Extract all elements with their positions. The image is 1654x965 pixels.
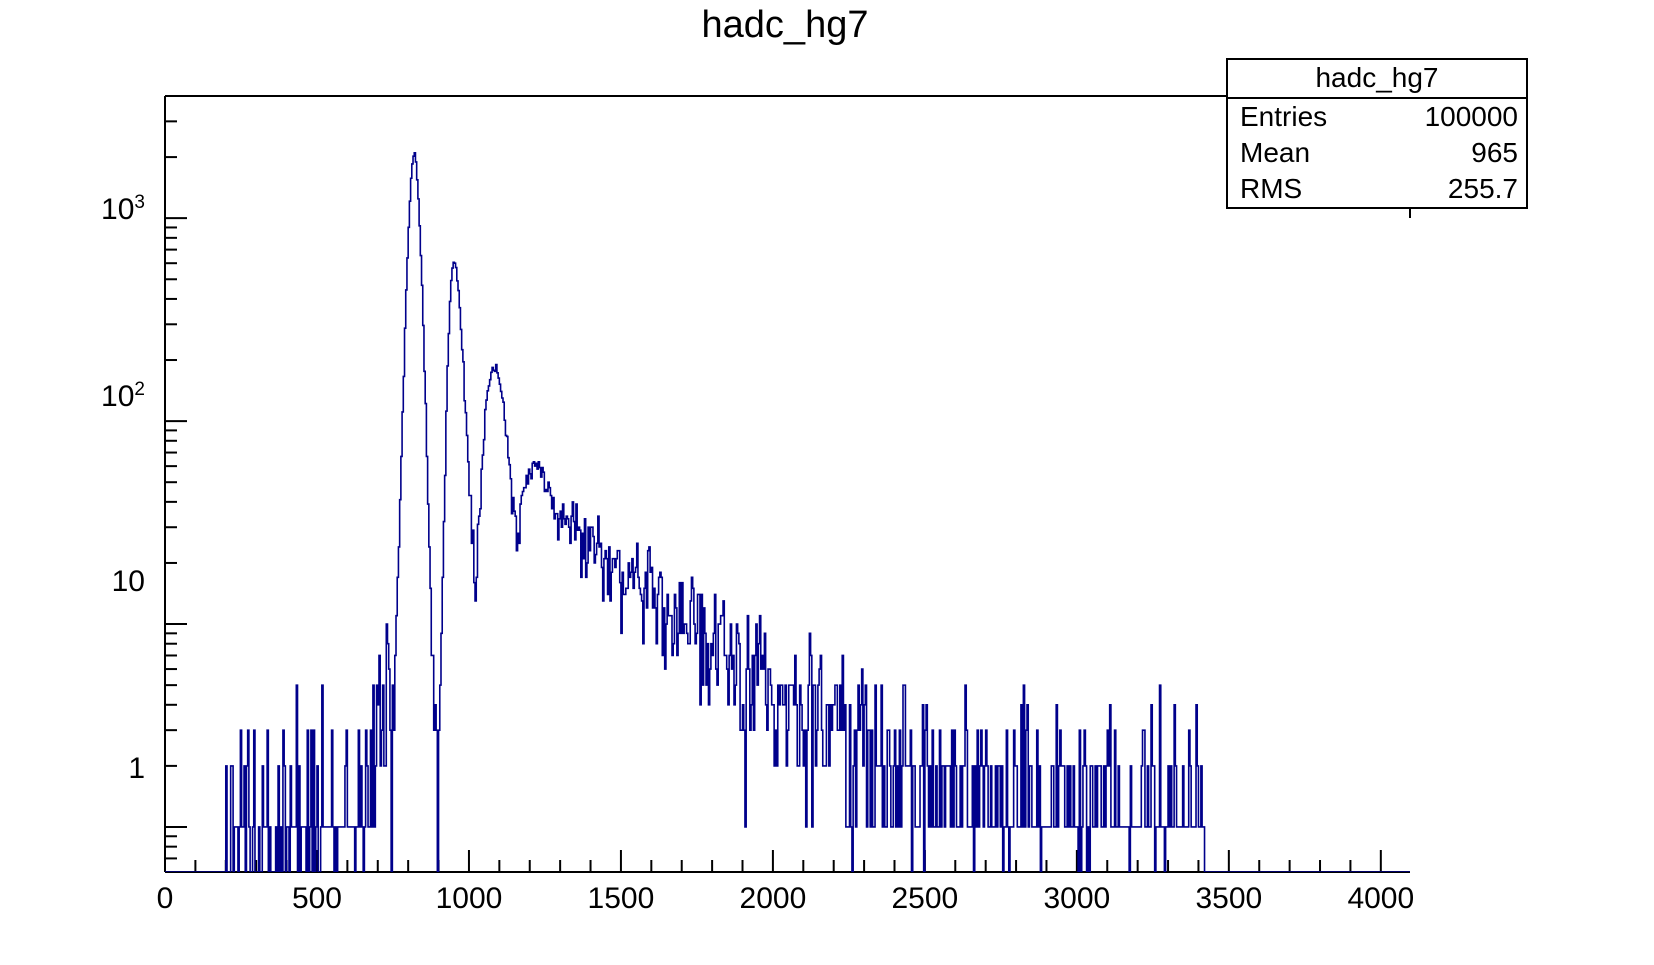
y-axis-ticks [165,96,187,872]
x-tick-label-2000: 2000 [713,882,833,916]
x-axis-ticks [165,850,1381,872]
histogram-layer [165,153,1410,872]
stats-box-title: hadc_hg7 [1228,60,1526,99]
stats-row-entries: Entries 100000 [1228,99,1526,135]
stats-value-mean: 965 [1471,135,1518,171]
y-tick-label-10: 10 [60,565,145,599]
stats-label-mean: Mean [1240,135,1310,171]
x-tick-label-500: 500 [257,882,377,916]
x-tick-label-1500: 1500 [561,882,681,916]
stats-box[interactable]: hadc_hg7 Entries 100000 Mean 965 RMS 255… [1226,58,1528,209]
stats-row-mean: Mean 965 [1228,135,1526,171]
x-tick-label-3500: 3500 [1169,882,1289,916]
stats-value-entries: 100000 [1425,99,1518,135]
y-tick-label-1: 1 [60,752,145,786]
x-tick-label-4000: 4000 [1321,882,1441,916]
y-tick-label-1000: 103 [60,192,145,227]
x-tick-label-1000: 1000 [409,882,529,916]
stats-label-entries: Entries [1240,99,1327,135]
stats-value-rms: 255.7 [1448,171,1518,207]
histogram-trace [165,153,1410,872]
y-tick-label-100: 102 [60,379,145,414]
stats-label-rms: RMS [1240,171,1302,207]
x-tick-label-2500: 2500 [865,882,985,916]
x-tick-label-3000: 3000 [1017,882,1137,916]
stats-row-rms: RMS 255.7 [1228,171,1526,207]
root-canvas: hadc_hg7 103 102 10 1 050010001500200025… [0,0,1654,965]
x-tick-label-0: 0 [105,882,225,916]
